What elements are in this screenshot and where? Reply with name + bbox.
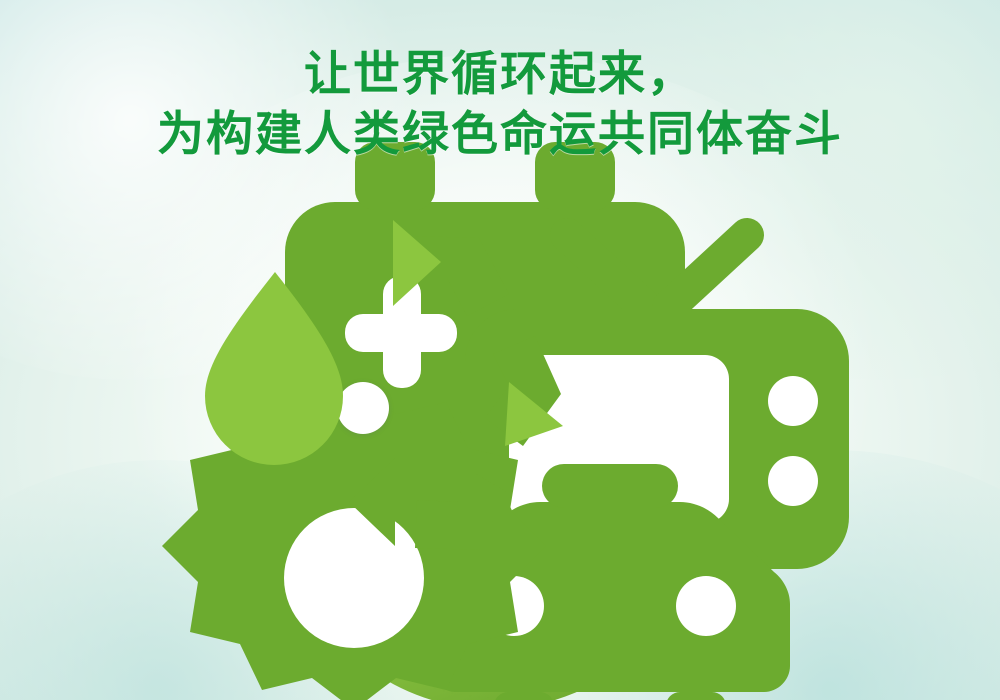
headline-line-1: 让世界循环起来， [0,44,1000,104]
water-recycle-icon [123,168,603,648]
icon-bubble-water-recycle[interactable] [337,382,389,434]
headline: 让世界循环起来， 为构建人类绿色命运共同体奋斗 [0,44,1000,164]
headline-line-2: 为构建人类绿色命运共同体奋斗 [0,104,1000,164]
five-industry-chain-diagram: 废品回收 材料再造 金属材料化 新能源产品 再利用 [200,200,800,680]
poster-canvas: 让世界循环起来， 为构建人类绿色命运共同体奋斗 [0,0,1000,700]
